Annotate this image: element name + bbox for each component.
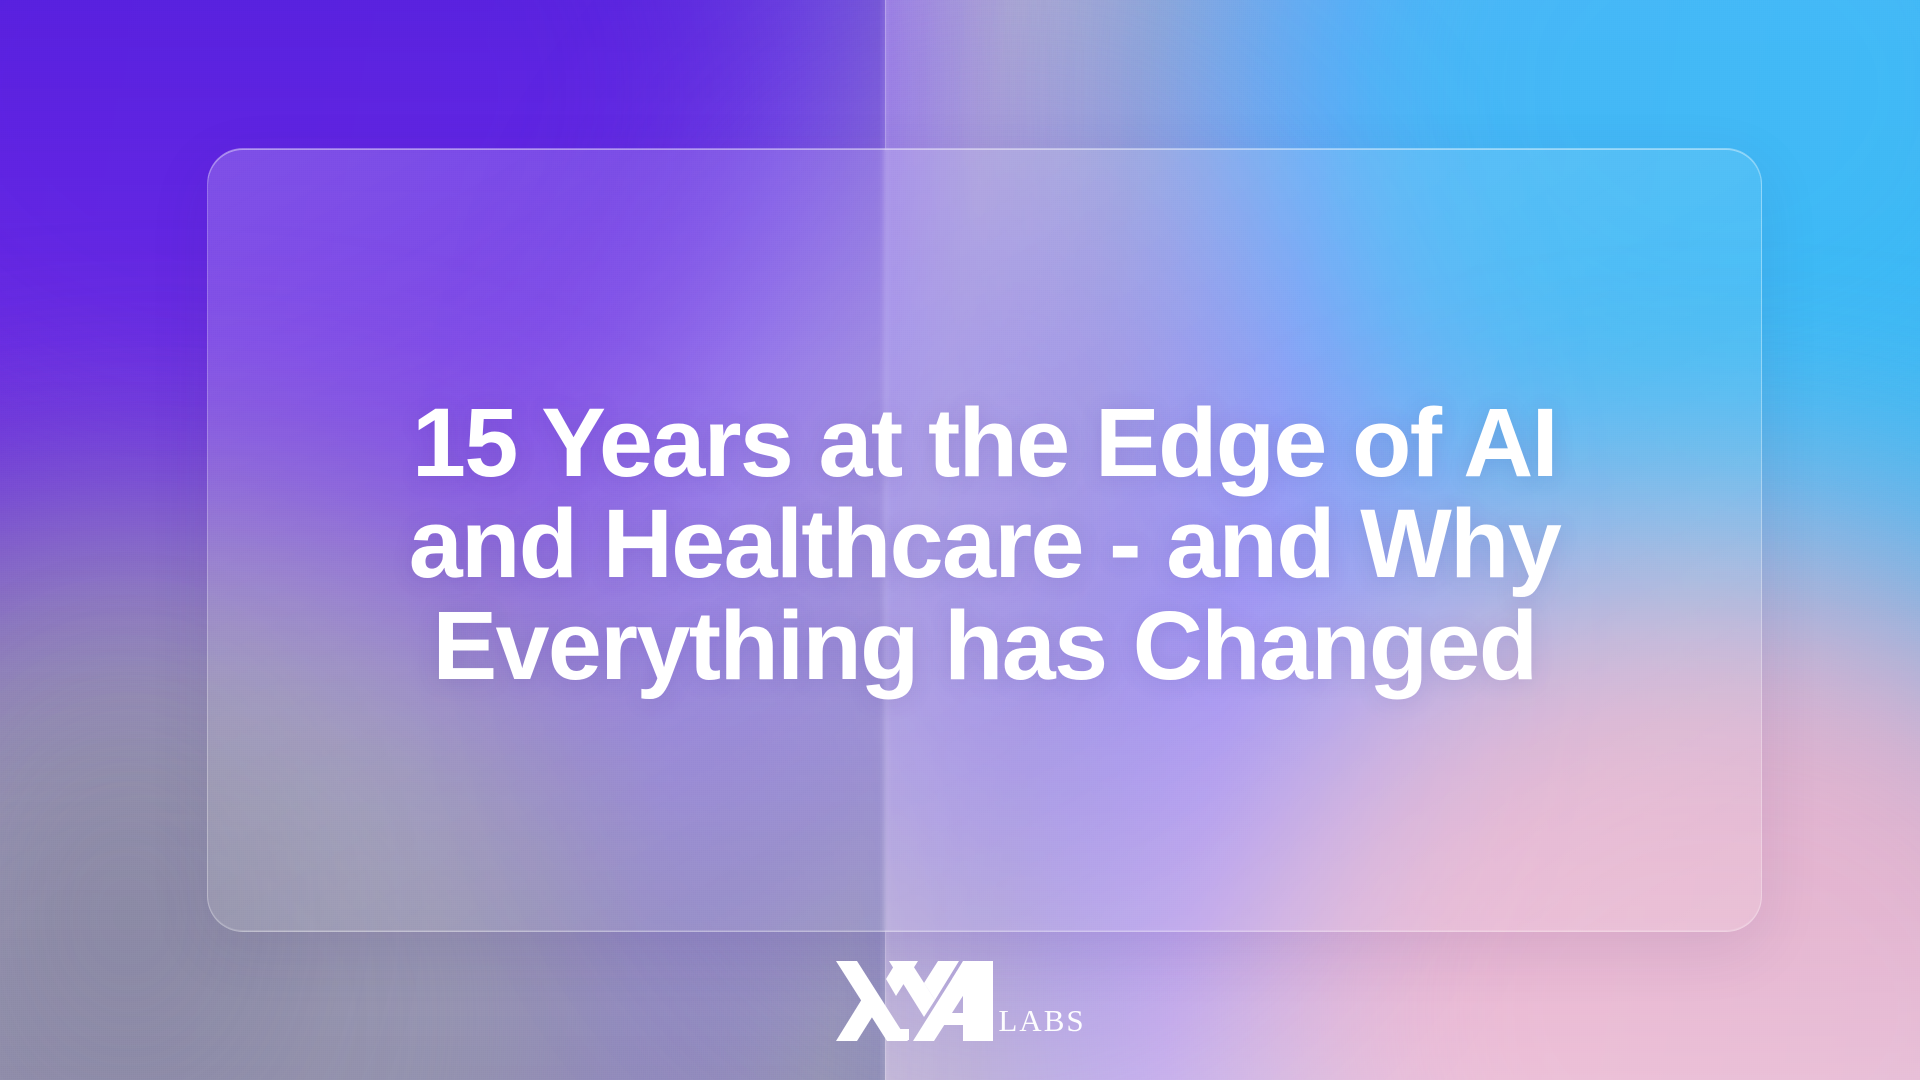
- page-title: 15 Years at the Edge of AI and Healthcar…: [370, 392, 1600, 696]
- glass-card: 15 Years at the Edge of AI and Healthcar…: [207, 148, 1762, 932]
- slide-canvas: 15 Years at the Edge of AI and Healthcar…: [0, 0, 1920, 1080]
